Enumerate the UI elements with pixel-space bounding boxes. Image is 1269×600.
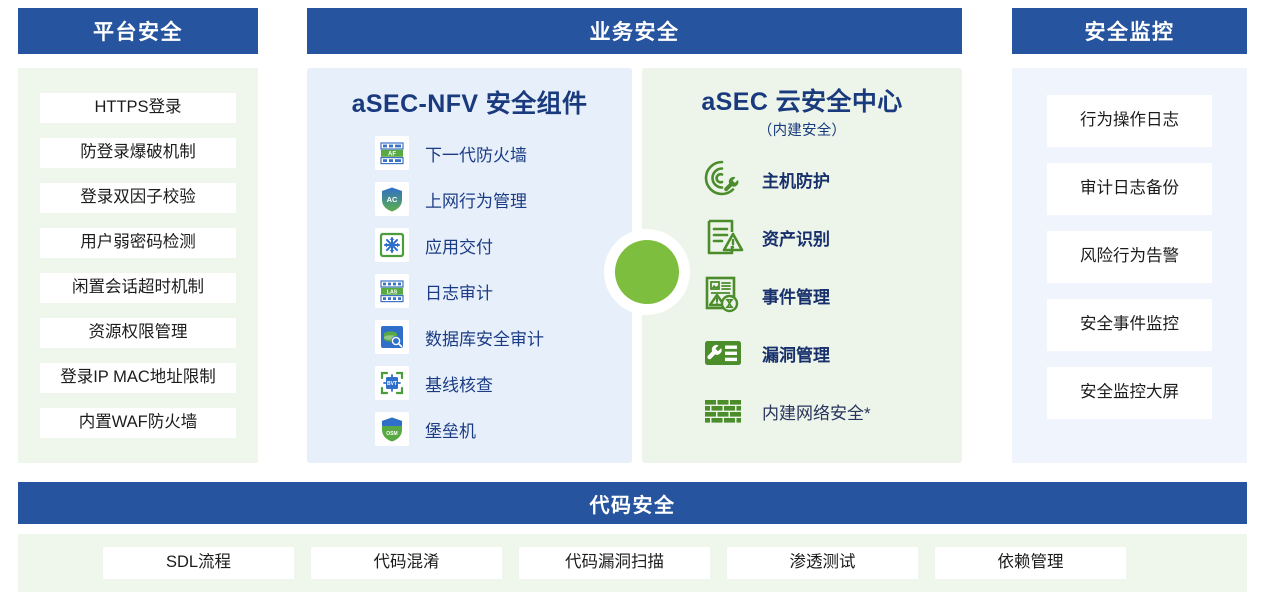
event-management-icon	[700, 272, 746, 318]
column-body-platform-security: HTTPS登录 防登录爆破机制 登录双因子校验 用户弱密码检测 闲置会话超时机制…	[18, 68, 258, 463]
list-item: 资产识别	[642, 208, 962, 266]
column-header-business-security: 业务安全	[307, 8, 962, 54]
column-header-security-monitoring: 安全监控	[1012, 8, 1247, 54]
panel-subtitle-asec-cloud: （内建安全）	[642, 119, 962, 140]
list-item-label: 堡垒机	[425, 417, 476, 442]
feature-list-nfv: AF 下一代防火墙	[307, 130, 632, 452]
database-audit-icon	[375, 320, 409, 354]
list-item-label: 数据库安全审计	[425, 325, 544, 350]
security-architecture-diagram: 平台安全 HTTPS登录 防登录爆破机制 登录双因子校验 用户弱密码检测 闲置会…	[0, 0, 1269, 600]
shield-osm-icon: OSM	[375, 412, 409, 446]
column-header-code-security: 代码安全	[18, 482, 1247, 524]
asset-identify-icon	[700, 214, 746, 260]
list-item: 审计日志备份	[1047, 163, 1212, 215]
list-item-label: 资产识别	[762, 225, 830, 250]
list-item-label: 漏洞管理	[762, 341, 830, 366]
panel-title-asec-cloud: aSEC 云安全中心	[642, 82, 962, 118]
list-item-label: 应用交付	[425, 233, 493, 258]
list-item: HTTPS登录	[40, 93, 236, 123]
log-audit-las-icon: LAS	[375, 274, 409, 308]
list-item: SDL流程	[103, 547, 294, 579]
panel-asec-cloud-security-center: aSEC 云安全中心 （内建安全） 主机防护	[642, 68, 962, 463]
list-item: 登录双因子校验	[40, 183, 236, 213]
column-header-platform-security: 平台安全	[18, 8, 258, 54]
svg-text:AF: AF	[388, 151, 396, 157]
list-item: 事件管理	[642, 266, 962, 324]
list-item: AF 下一代防火墙	[307, 130, 632, 176]
list-item: 内建网络安全*	[642, 382, 962, 440]
feature-list-cloud: 主机防护 资产识别	[642, 150, 962, 440]
svg-text:BVT: BVT	[387, 381, 397, 387]
svg-text:LAS: LAS	[387, 289, 398, 295]
list-item-label: 上网行为管理	[425, 187, 527, 212]
list-item-label: 日志审计	[425, 279, 493, 304]
list-item: 行为操作日志	[1047, 95, 1212, 147]
list-item: 应用交付	[307, 222, 632, 268]
list-item: 闲置会话超时机制	[40, 273, 236, 303]
list-item: OSM 堡垒机	[307, 406, 632, 452]
list-item: 安全事件监控	[1047, 299, 1212, 351]
list-item: BVT 基线核查	[307, 360, 632, 406]
panel-asec-nfv: aSEC-NFV 安全组件 AF	[307, 68, 632, 463]
list-item: 渗透测试	[727, 547, 918, 579]
list-item-label: 基线核查	[425, 371, 493, 396]
list-item: 内置WAF防火墙	[40, 408, 236, 438]
list-item-label: 事件管理	[762, 283, 830, 308]
list-item: LAS 日志审计	[307, 268, 632, 314]
shield-ac-icon: AC	[375, 182, 409, 216]
svg-text:OSM: OSM	[386, 431, 397, 437]
column-body-code-security: SDL流程 代码混淆 代码漏洞扫描 渗透测试 依赖管理	[18, 534, 1247, 592]
host-protection-icon	[700, 156, 746, 202]
app-delivery-icon	[375, 228, 409, 262]
list-item: 依赖管理	[935, 547, 1126, 579]
list-item: 安全监控大屏	[1047, 367, 1212, 419]
list-item: 代码漏洞扫描	[519, 547, 710, 579]
list-item-label: 主机防护	[762, 167, 830, 192]
list-item: 防登录爆破机制	[40, 138, 236, 168]
list-item-label: 下一代防火墙	[425, 141, 527, 166]
list-item: 登录IP MAC地址限制	[40, 363, 236, 393]
list-item: 代码混淆	[311, 547, 502, 579]
connector-circle	[604, 229, 690, 315]
column-body-security-monitoring: 行为操作日志 审计日志备份 风险行为告警 安全事件监控 安全监控大屏	[1012, 68, 1247, 463]
list-item: 资源权限管理	[40, 318, 236, 348]
brick-wall-icon	[700, 388, 746, 434]
baseline-bvt-icon: BVT	[375, 366, 409, 400]
list-item: 主机防护	[642, 150, 962, 208]
panel-title-asec-nfv: aSEC-NFV 安全组件	[307, 84, 632, 120]
connector-dot	[615, 240, 679, 304]
list-item: 数据库安全审计	[307, 314, 632, 360]
list-item: 用户弱密码检测	[40, 228, 236, 258]
list-item: 风险行为告警	[1047, 231, 1212, 283]
list-item: 漏洞管理	[642, 324, 962, 382]
list-item-label: 内建网络安全*	[762, 399, 871, 424]
vulnerability-wrench-icon	[700, 330, 746, 376]
firewall-af-icon: AF	[375, 136, 409, 170]
list-item: AC 上网行为管理	[307, 176, 632, 222]
svg-text:AC: AC	[387, 195, 398, 204]
